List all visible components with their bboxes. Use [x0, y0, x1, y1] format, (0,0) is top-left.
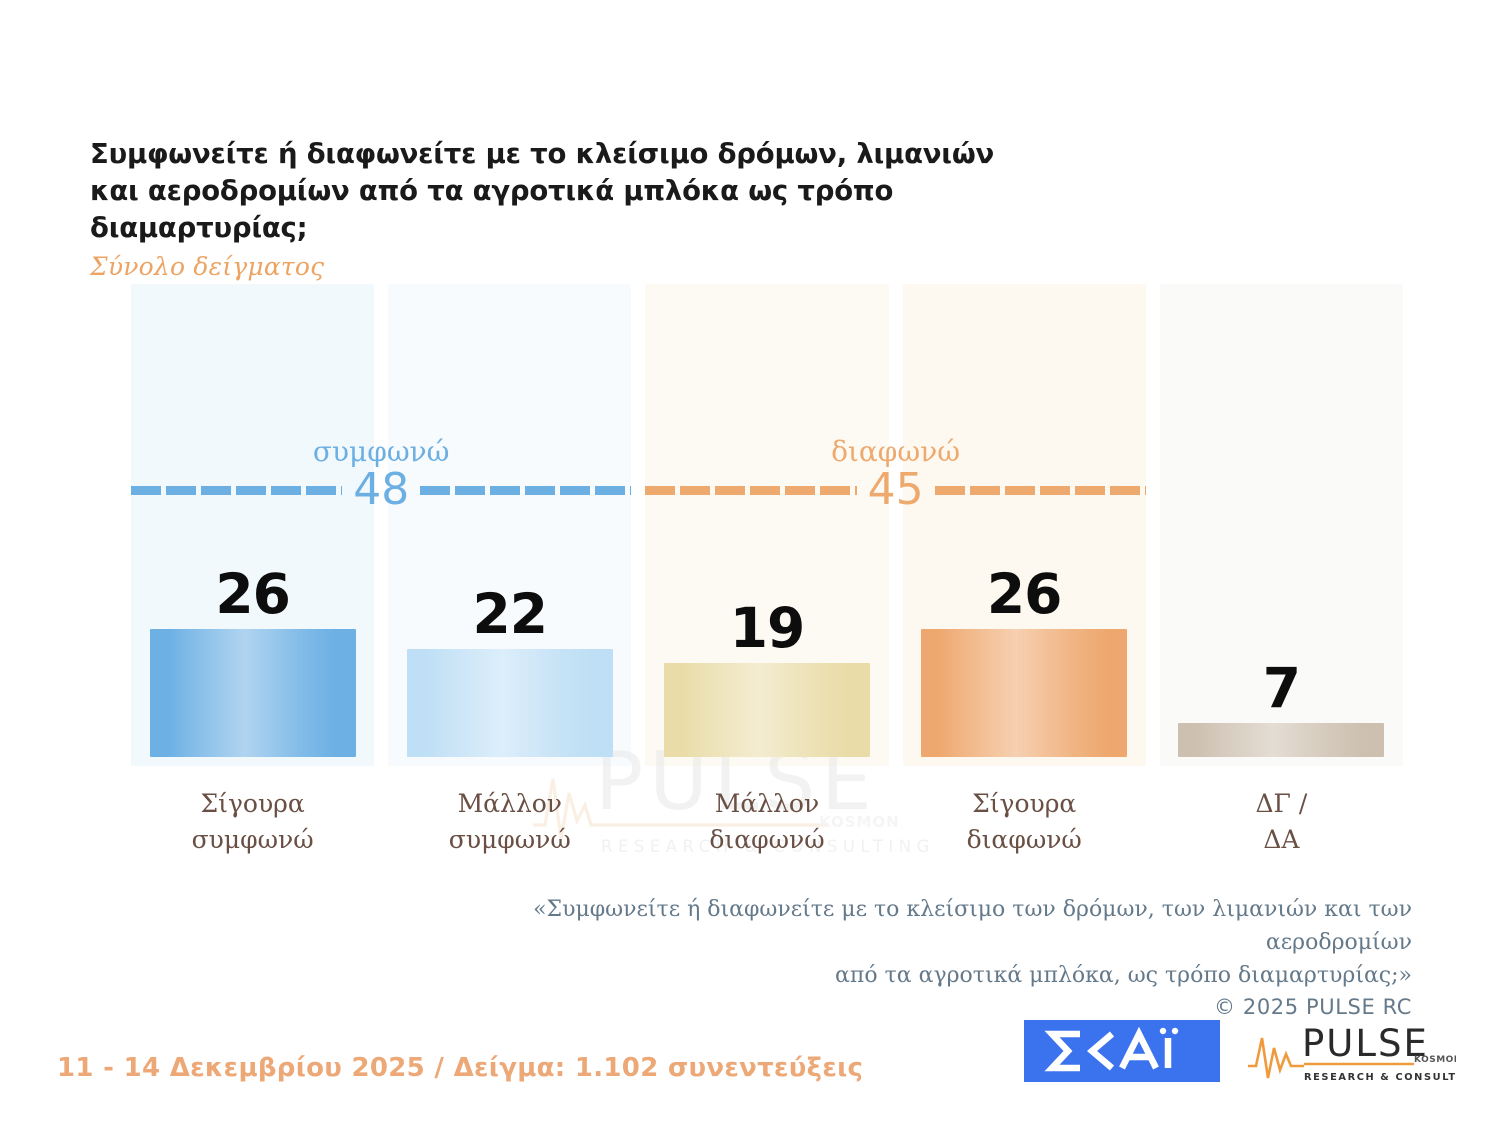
category-label-3-line1: Σίγουρα: [903, 786, 1146, 822]
bar-2: [664, 663, 870, 757]
category-label-4-line1: ΔΓ /: [1160, 786, 1403, 822]
footnote-line-2: από τα αγροτικά μπλόκα, ως τρόπο διαμαρτ…: [392, 959, 1412, 992]
svg-text:RESEARCH & CONSULTING: RESEARCH & CONSULTING: [1304, 1072, 1456, 1083]
category-label-3-line2: διαφωνώ: [903, 822, 1146, 858]
bracket-agree-line: 48: [131, 472, 631, 508]
category-label-0: Σίγουρα συμφωνώ: [131, 786, 374, 857]
category-label-2: Μάλλον διαφωνώ: [645, 786, 888, 857]
category-label-4-line2: ΔΑ: [1160, 822, 1403, 858]
page-title: Συμφωνείτε ή διαφωνείτε με το κλείσιμο δ…: [90, 136, 1030, 247]
title-block: Συμφωνείτε ή διαφωνείτε με το κλείσιμο δ…: [90, 136, 1030, 281]
bar-3: [921, 629, 1127, 757]
chart-plot-area: PULSE KOSMON RESEARCH & CONSULTING συμφω…: [131, 284, 1403, 766]
bracket-disagree-label: διαφωνώ: [645, 438, 1145, 466]
bracket-agree-total: 48: [342, 468, 420, 512]
fieldwork-date-sample: 11 - 14 Δεκεμβρίου 2025 / Δείγμα: 1.102 …: [57, 1053, 863, 1083]
svg-text:KOSMON: KOSMON: [1414, 1055, 1456, 1065]
category-label-0-line2: συμφωνώ: [131, 822, 374, 858]
pulse-logo: PULSE KOSMON RESEARCH & CONSULTING: [1246, 1016, 1456, 1086]
chart-subtitle: Σύνολο δείγματος: [90, 252, 1030, 281]
bar-value-2: 19: [645, 601, 888, 656]
footnote: «Συμφωνείτε ή διαφωνείτε με το κλείσιμο …: [392, 893, 1412, 1024]
logo-group: PULSE KOSMON RESEARCH & CONSULTING: [1024, 1016, 1456, 1086]
bracket-disagree-dashes-left: [645, 486, 856, 495]
bracket-disagree-total: 45: [857, 468, 935, 512]
bar-4: [1178, 723, 1384, 757]
bracket-agree-label: συμφωνώ: [131, 438, 631, 466]
category-label-0-line1: Σίγουρα: [131, 786, 374, 822]
bar-value-0: 26: [131, 567, 374, 622]
skai-logo: [1024, 1020, 1220, 1082]
bar-value-4: 7: [1160, 661, 1403, 716]
category-label-1: Μάλλον συμφωνώ: [388, 786, 631, 857]
category-label-1-line2: συμφωνώ: [388, 822, 631, 858]
bar-value-1: 22: [388, 587, 631, 642]
svg-text:PULSE: PULSE: [1302, 1022, 1429, 1065]
category-label-1-line1: Μάλλον: [388, 786, 631, 822]
bracket-disagree: διαφωνώ 45: [645, 438, 1145, 508]
bar-1: [407, 649, 613, 757]
category-label-2-line2: διαφωνώ: [645, 822, 888, 858]
bracket-disagree-dashes-right: [935, 486, 1146, 495]
bar-0: [150, 629, 356, 757]
bracket-agree: συμφωνώ 48: [131, 438, 631, 508]
category-label-2-line1: Μάλλον: [645, 786, 888, 822]
footnote-line-1: «Συμφωνείτε ή διαφωνείτε με το κλείσιμο …: [392, 893, 1412, 959]
bracket-agree-dashes-left: [131, 486, 342, 495]
bar-value-3: 26: [903, 567, 1146, 622]
category-label-3: Σίγουρα διαφωνώ: [903, 786, 1146, 857]
bracket-agree-dashes-right: [420, 486, 631, 495]
category-label-4: ΔΓ / ΔΑ: [1160, 786, 1403, 857]
bracket-disagree-line: 45: [645, 472, 1145, 508]
